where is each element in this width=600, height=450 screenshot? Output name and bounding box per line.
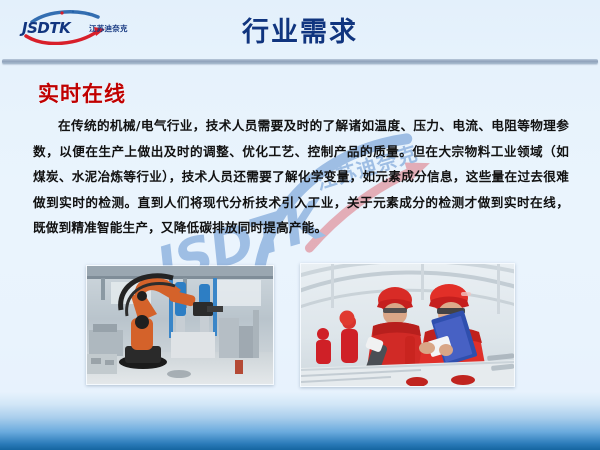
slide-header: JSDTK 江苏迪奈克 行业需求 bbox=[0, 0, 600, 60]
body-paragraph: 在传统的机械/电气行业，技术人员需要及时的了解诸如温度、压力、电流、电阻等物理参… bbox=[33, 113, 569, 241]
industrial-robot-arm-photo bbox=[86, 265, 274, 385]
robot-arm-illustration bbox=[87, 266, 273, 384]
page-title: 行业需求 bbox=[0, 10, 600, 49]
field-workers-inspection-photo bbox=[300, 263, 515, 387]
section-heading: 实时在线 bbox=[38, 78, 126, 108]
presentation-slide: JSDTK 江苏迪奈克 JSDTK 江苏迪奈克 行业需求 实时在线 在传统的机械… bbox=[0, 0, 600, 450]
workers-illustration bbox=[301, 264, 514, 386]
header-divider bbox=[2, 59, 598, 64]
